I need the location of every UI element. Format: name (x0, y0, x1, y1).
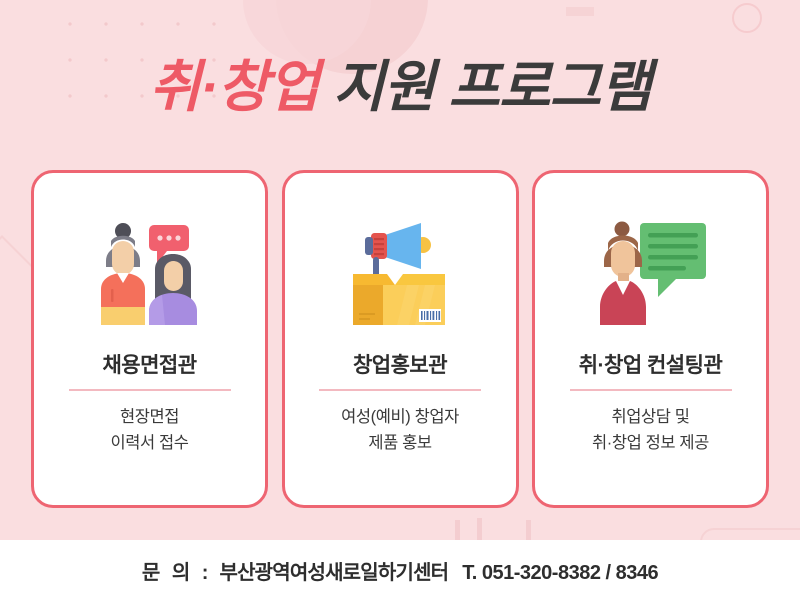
card-title: 창업홍보관 (353, 349, 447, 379)
card-divider (319, 389, 481, 391)
page-title-accent: 취·창업 (149, 55, 318, 118)
page-title: 취·창업 지원 프로그램 (0, 42, 800, 123)
two-women-interview-icon (85, 217, 215, 327)
card-title: 채용면접관 (102, 349, 196, 379)
card-description: 여성(예비) 창업자 제품 홍보 (341, 405, 459, 456)
contact-organization: 부산광역여성새로일하기센터 (219, 556, 448, 585)
program-card-list: 채용면접관 현장면접 이력서 접수 (31, 170, 769, 508)
decor-ring-icon (732, 3, 762, 33)
poster-root: 취·창업 지원 프로그램 (0, 0, 800, 601)
card-divider (69, 389, 231, 391)
decor-dot-column (780, 300, 788, 450)
decor-bar (566, 7, 594, 16)
card-description-line1: 취업상담 및 (611, 408, 689, 426)
page-title-plain: 지원 프로그램 (333, 55, 651, 118)
card-description-line2: 제품 홍보 (368, 434, 431, 452)
card-divider (570, 389, 732, 391)
contact-telephone: T. 051-320-8382 / 8346 (462, 562, 658, 585)
contact-label: 문 의 : (142, 556, 212, 585)
decor-dot-row (28, 515, 168, 523)
woman-consulting-icon (586, 217, 716, 327)
card-description-line1: 여성(예비) 창업자 (341, 408, 459, 426)
card-description: 현장면접 이력서 접수 (110, 405, 188, 456)
card-description: 취업상담 및 취·창업 정보 제공 (592, 405, 709, 456)
card-description-line1: 현장면접 (120, 408, 179, 426)
card-description-line2: 취·창업 정보 제공 (592, 434, 709, 452)
program-card-recruitment-interview[interactable]: 채용면접관 현장면접 이력서 접수 (31, 170, 268, 508)
megaphone-box-icon (335, 217, 465, 327)
program-card-consulting[interactable]: 취·창업 컨설팅관 취업상담 및 취·창업 정보 제공 (532, 170, 769, 508)
program-card-startup-promotion[interactable]: 창업홍보관 여성(예비) 창업자 제품 홍보 (282, 170, 519, 508)
card-title: 취·창업 컨설팅관 (579, 349, 723, 379)
card-description-line2: 이력서 접수 (110, 434, 188, 452)
contact-footer-inner: 문 의 : 부산광역여성새로일하기센터 T. 051-320-8382 / 83… (142, 556, 658, 585)
contact-footer: 문 의 : 부산광역여성새로일하기센터 T. 051-320-8382 / 83… (0, 540, 800, 601)
